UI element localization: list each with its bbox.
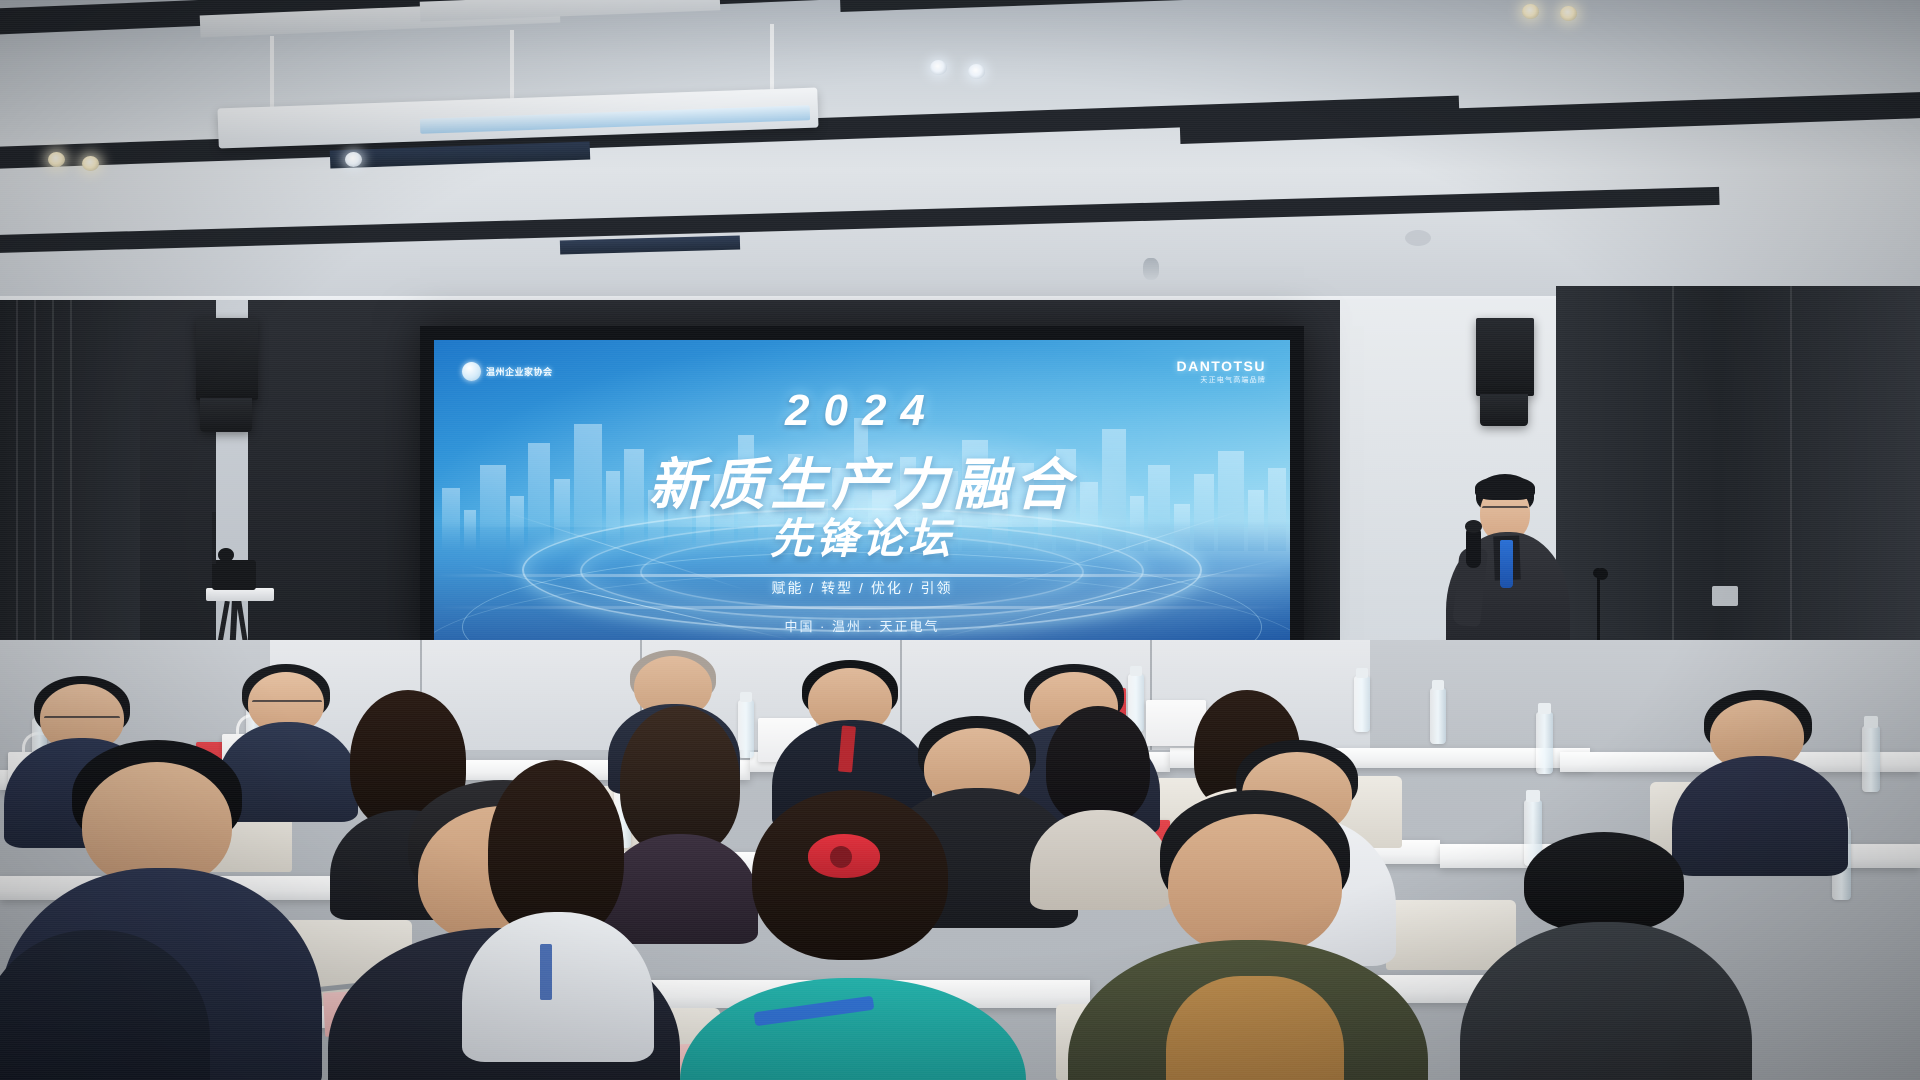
screen-year: 2024 — [434, 386, 1290, 436]
bottle-cap — [1864, 716, 1878, 728]
led-screen: 温州企业家协会 DANTOTSU 天正电气高端品牌 2024 新质生产力融合 先… — [434, 340, 1290, 642]
speaker-glasses — [1482, 506, 1528, 516]
bottle-cap — [1356, 668, 1368, 678]
speaker-tie — [1500, 540, 1513, 588]
screen-brand-sub: 天正电气高端品牌 — [1176, 375, 1266, 385]
ceiling-panel — [420, 0, 721, 22]
ceiling-spotlight — [82, 156, 99, 171]
speaker-hair-top — [1475, 476, 1535, 500]
audience-person — [0, 930, 200, 1080]
water-bottle — [1430, 688, 1446, 744]
wall-socket-plate — [1712, 586, 1738, 606]
bottle-cap — [1538, 703, 1551, 714]
screen-light-band — [434, 574, 1290, 577]
ceiling-spotlight — [1522, 4, 1539, 19]
audience-person — [1476, 832, 1736, 1080]
microphone-head-icon — [1465, 520, 1482, 533]
ceiling-spotlight — [968, 64, 985, 79]
audience-person — [456, 760, 656, 1040]
ceiling-strip — [1180, 89, 1920, 144]
ceiling-spotlight — [930, 60, 947, 75]
ceiling-strip — [839, 0, 1920, 12]
audience-person — [1074, 790, 1424, 1080]
loudspeaker-left — [196, 318, 258, 400]
water-bottle — [1354, 676, 1370, 732]
ceiling-spotlight — [1560, 6, 1577, 21]
conference-room-photo: 温州企业家协会 DANTOTSU 天正电气高端品牌 2024 新质生产力融合 先… — [0, 0, 1920, 1080]
lanyard — [540, 944, 552, 1000]
ceiling — [0, 0, 1920, 310]
bottle-cap — [1526, 790, 1540, 802]
water-bottle — [1536, 712, 1553, 774]
loudspeaker-right — [1476, 318, 1534, 396]
led-screen-frame: 温州企业家协会 DANTOTSU 天正电气高端品牌 2024 新质生产力融合 先… — [420, 326, 1304, 656]
gooseneck-mic-icon — [1596, 568, 1608, 580]
screen-logo-left: 温州企业家协会 — [462, 362, 553, 381]
screen-location: 中国 · 温州 · 天正电气 — [434, 616, 1290, 635]
video-camera — [212, 560, 256, 590]
bottle-cap — [1432, 680, 1444, 690]
water-bottle — [1862, 726, 1880, 792]
screen-subhead: 先锋论坛 — [434, 505, 1290, 566]
circular-emblem-icon — [462, 362, 481, 381]
screen-logo-left-text: 温州企业家协会 — [486, 365, 553, 378]
camera-lens-icon — [218, 548, 234, 562]
screen-light-band — [434, 606, 1290, 609]
ceiling-spotlight — [345, 152, 362, 167]
bottle-cap — [740, 692, 752, 702]
loudspeaker-left-bracket — [200, 398, 252, 432]
tripod-column — [212, 512, 216, 564]
screen-logo-right: DANTOTSU 天正电气高端品牌 — [1176, 358, 1266, 385]
ceiling-disc — [1405, 230, 1431, 246]
smoke-detector-icon — [1143, 258, 1159, 280]
screen-tagline: 赋能 / 转型 / 优化 / 引领 — [434, 578, 1290, 598]
screen-brand-name: DANTOTSU — [1176, 358, 1266, 374]
ceiling-spotlight — [48, 152, 65, 167]
ceiling-panel — [560, 235, 740, 254]
loudspeaker-right-bracket — [1480, 394, 1528, 426]
audience-person — [690, 790, 1010, 1080]
hair-bow-knot — [830, 846, 852, 868]
ceiling-strip — [0, 187, 1720, 254]
